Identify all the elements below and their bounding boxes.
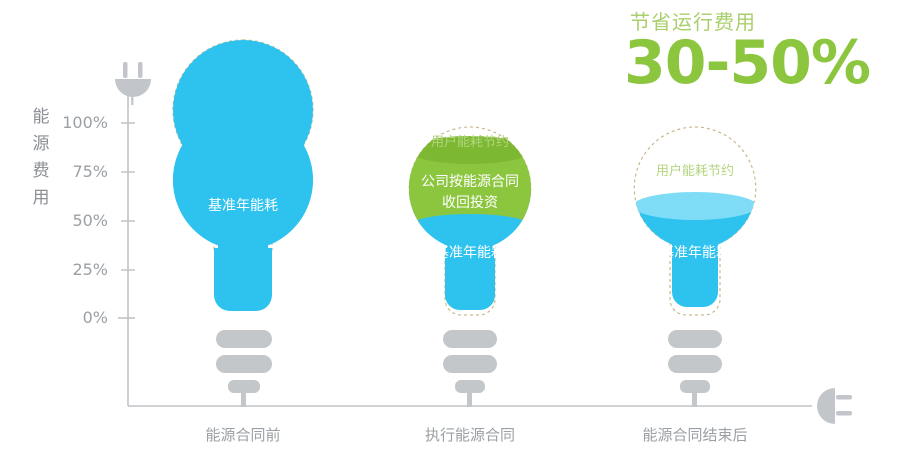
headline-value: 30-50%	[624, 28, 870, 98]
y-tick-label-75: 75%	[56, 162, 108, 181]
bulb-2-group	[400, 127, 550, 407]
plug-icon-right	[817, 388, 852, 424]
bulb-3-group	[630, 127, 760, 407]
infographic-stage: 节省运行费用 30-50% 能源费用 100% 75% 50% 25% 0% 能…	[0, 0, 900, 473]
y-tick-label-50: 50%	[56, 211, 108, 230]
bulb-1-group	[160, 35, 330, 407]
y-axis-title: 能源费用	[30, 104, 52, 212]
y-tick-label-0: 0%	[56, 308, 108, 327]
y-tick-label-25: 25%	[56, 260, 108, 279]
y-tick-label-100: 100%	[56, 113, 108, 132]
x-axis-label-2: 执行能源合同	[370, 424, 570, 445]
y-tick-marks	[118, 123, 135, 318]
x-axis-label-3: 能源合同结束后	[595, 424, 795, 445]
x-axis-label-1: 能源合同前	[143, 424, 343, 445]
plug-icon-top	[115, 62, 151, 105]
